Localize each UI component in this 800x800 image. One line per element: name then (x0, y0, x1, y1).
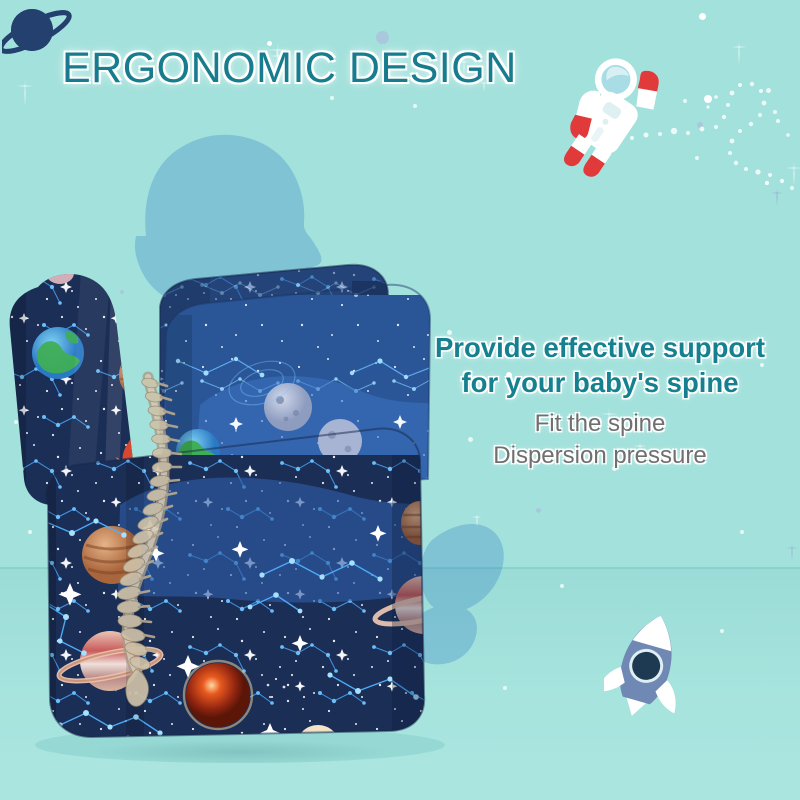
headline-line-1: Provide effective support (414, 330, 786, 365)
chair-floor-shadow (30, 735, 450, 769)
headline-line-2: for your baby's spine (414, 365, 786, 400)
chair-arm-base (20, 455, 470, 775)
subline-line-2: Dispersion pressure (414, 440, 786, 472)
kids-armchair (0, 255, 470, 775)
headline-text: Provide effective support for your baby'… (414, 330, 786, 400)
promo-banner: ERGONOMIC DESIGN (0, 0, 800, 800)
subline-line-1: Fit the spine (414, 408, 786, 440)
astronaut-icon (556, 48, 686, 178)
subline-text: Fit the spine Dispersion pressure (414, 408, 786, 472)
rocket-icon (604, 608, 690, 718)
